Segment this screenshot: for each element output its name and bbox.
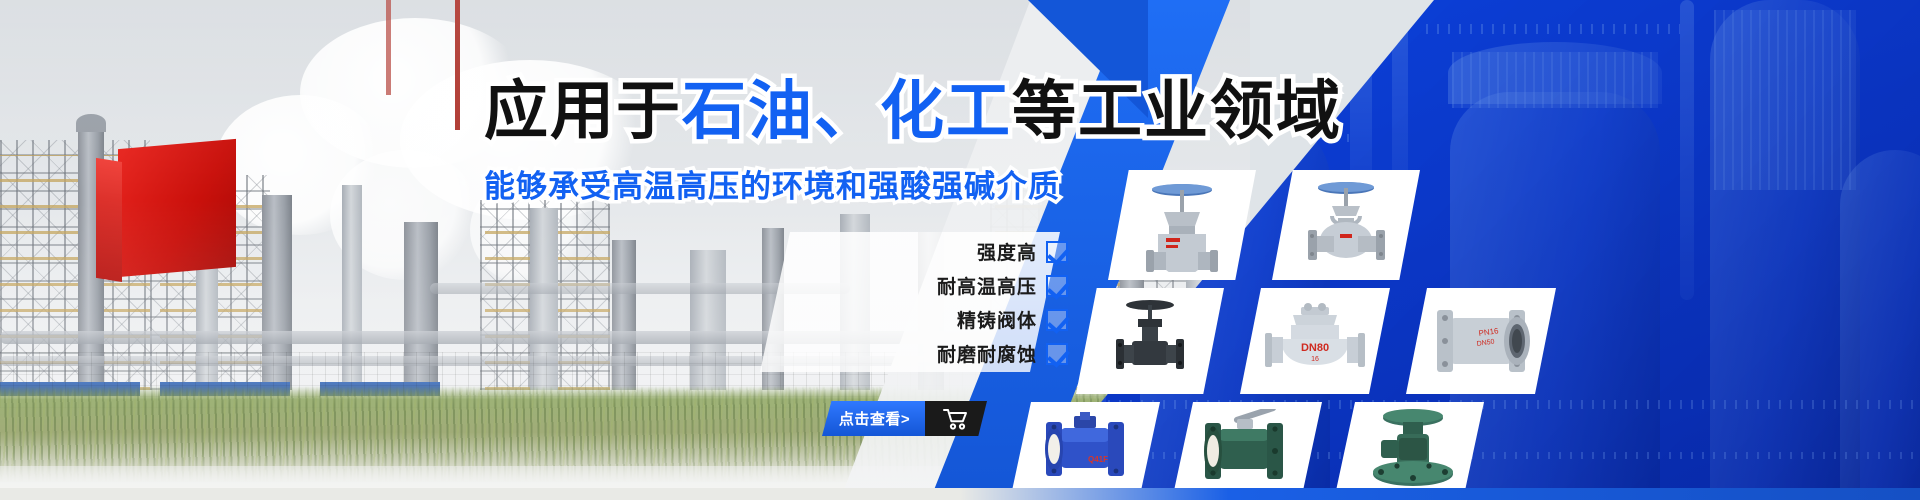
product-tile[interactable] (1272, 170, 1420, 280)
svg-text:16: 16 (1311, 356, 1319, 363)
product-tile[interactable] (1334, 402, 1484, 500)
promo-banner: DN80 16 PN16 DN50 (0, 0, 1920, 500)
svg-text:Q41F: Q41F (1088, 455, 1108, 464)
shopping-cart-icon (943, 408, 969, 430)
check-icon (1046, 343, 1068, 365)
product-tile[interactable]: PN16 DN50 (1406, 288, 1556, 394)
product-tile[interactable] (1076, 288, 1224, 394)
headline-part-1: 应用于 (484, 75, 682, 147)
product-tile[interactable] (1172, 402, 1322, 500)
lined-ball-valve-icon: Q41F (1032, 412, 1138, 490)
banner-subtitle: 能够承受高温高压的环境和强酸强碱介质 (484, 167, 1184, 207)
cta-label[interactable]: 点击查看> (822, 401, 927, 436)
cta-cart-section[interactable] (925, 401, 987, 436)
banner-headline: 应用于石油、化工等工业领域 (484, 74, 1304, 148)
green-ball-valve-lever-icon (1193, 409, 1301, 493)
headline-part-3: 等工业领域 (1012, 75, 1342, 147)
product-tile[interactable]: DN80 16 (1240, 288, 1390, 394)
product-tile[interactable]: Q41F (1010, 402, 1160, 500)
green-flanged-valve-icon (1359, 408, 1459, 494)
feature-item: 强度高 (977, 238, 1068, 265)
flanged-check-valve-icon: PN16 DN50 (1429, 304, 1533, 378)
globe-valve-flanged-icon (1298, 178, 1394, 272)
swing-check-valve-icon: DN80 16 (1263, 301, 1367, 381)
feature-label: 精铸阀体 (957, 306, 1037, 333)
feature-item: 精铸阀体 (957, 306, 1068, 333)
svg-text:DN80: DN80 (1301, 342, 1329, 354)
forged-gate-valve-icon (1104, 297, 1196, 385)
feature-label: 耐磨耐腐蚀 (937, 340, 1037, 367)
feature-item: 耐高温高压 (937, 272, 1068, 299)
feature-item: 耐磨耐腐蚀 (937, 340, 1068, 367)
check-icon (1046, 275, 1068, 297)
feature-label: 强度高 (977, 238, 1037, 265)
headline-part-2: 石油、化工 (682, 75, 1012, 147)
cta-button[interactable]: 点击查看> (822, 401, 982, 436)
feature-label: 耐高温高压 (937, 272, 1037, 299)
check-icon (1046, 241, 1068, 263)
check-icon (1046, 309, 1068, 331)
bottom-strip (0, 488, 1920, 500)
feature-list: 强度高 耐高温高压 精铸阀体 耐磨耐腐蚀 (818, 238, 1068, 367)
